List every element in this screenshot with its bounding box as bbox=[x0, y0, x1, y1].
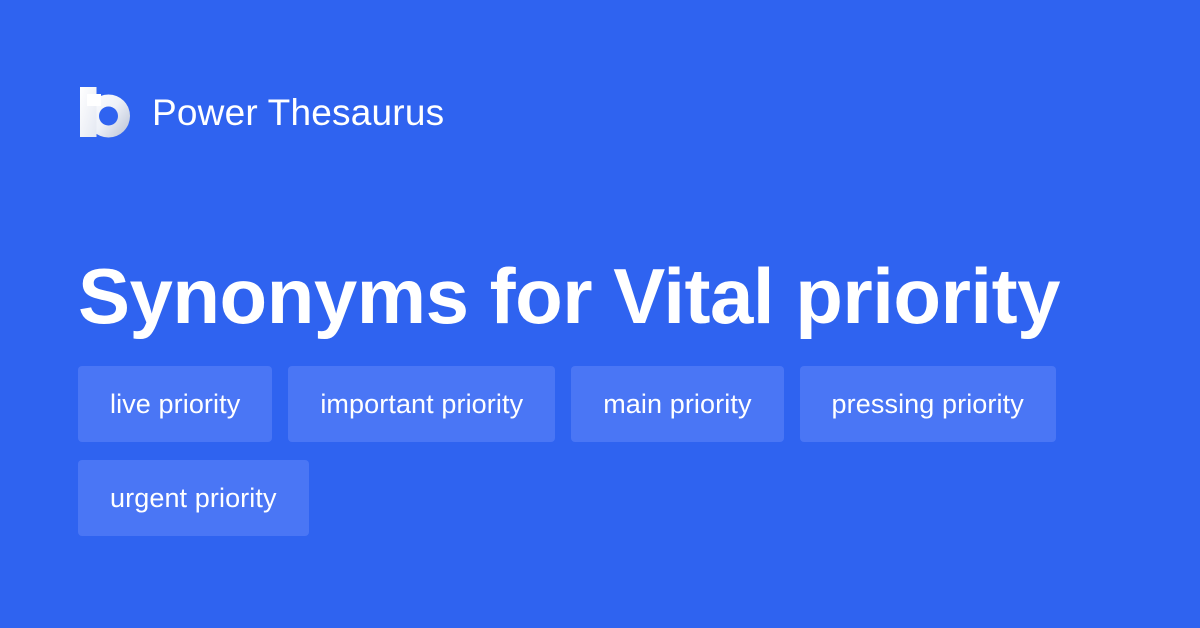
synonym-chip[interactable]: urgent priority bbox=[78, 460, 309, 536]
synonym-chip-list: live priority important priority main pr… bbox=[78, 366, 1138, 536]
synonym-chip[interactable]: live priority bbox=[78, 366, 272, 442]
synonym-chip[interactable]: pressing priority bbox=[800, 366, 1056, 442]
page-title: Synonyms for Vital priority bbox=[78, 248, 1138, 344]
brand-name: power thesaurus bbox=[152, 94, 444, 131]
synonym-chip[interactable]: important priority bbox=[288, 366, 555, 442]
brand-lockup[interactable]: power thesaurus bbox=[78, 84, 444, 140]
share-card: power thesaurus Synonyms for Vital prior… bbox=[0, 0, 1200, 628]
power-thesaurus-b-logo-icon bbox=[78, 85, 132, 139]
synonym-chip[interactable]: main priority bbox=[571, 366, 783, 442]
